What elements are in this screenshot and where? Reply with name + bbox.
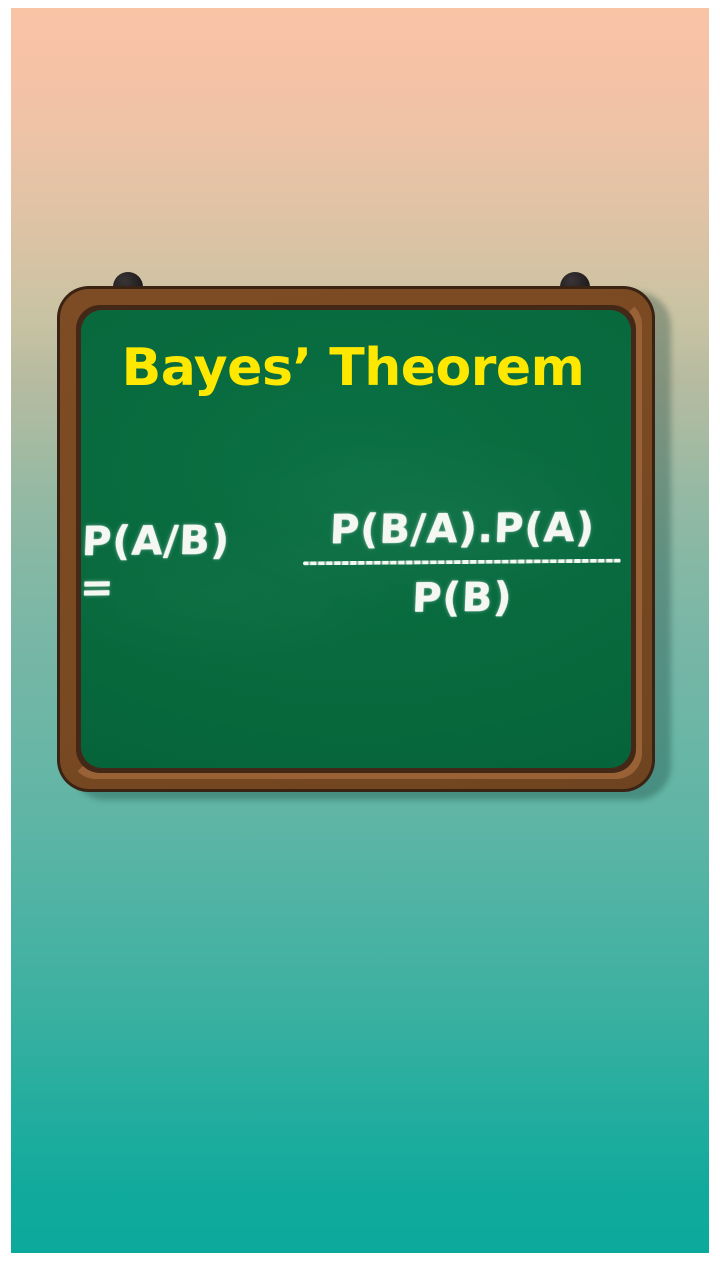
formula-left-hand-side: P(A/B) =	[81, 516, 279, 610]
slide-canvas: Bayes’ Theorem P(A/B) = P(B/A).P(A) P(B)	[0, 0, 720, 1280]
formula-numerator: P(B/A).P(A)	[322, 505, 601, 559]
formula-denominator: P(B)	[411, 565, 514, 622]
page-title: Bayes’ Theorem	[81, 342, 631, 394]
formula-fraction: P(B/A).P(A) P(B)	[303, 505, 622, 623]
chalkboard-slate: Bayes’ Theorem P(A/B) = P(B/A).P(A) P(B)	[81, 310, 631, 768]
bayes-formula: P(A/B) = P(B/A).P(A) P(B)	[81, 506, 631, 621]
chalkboard-frame: Bayes’ Theorem P(A/B) = P(B/A).P(A) P(B)	[57, 286, 655, 792]
chalkboard: Bayes’ Theorem P(A/B) = P(B/A).P(A) P(B)	[57, 272, 677, 812]
